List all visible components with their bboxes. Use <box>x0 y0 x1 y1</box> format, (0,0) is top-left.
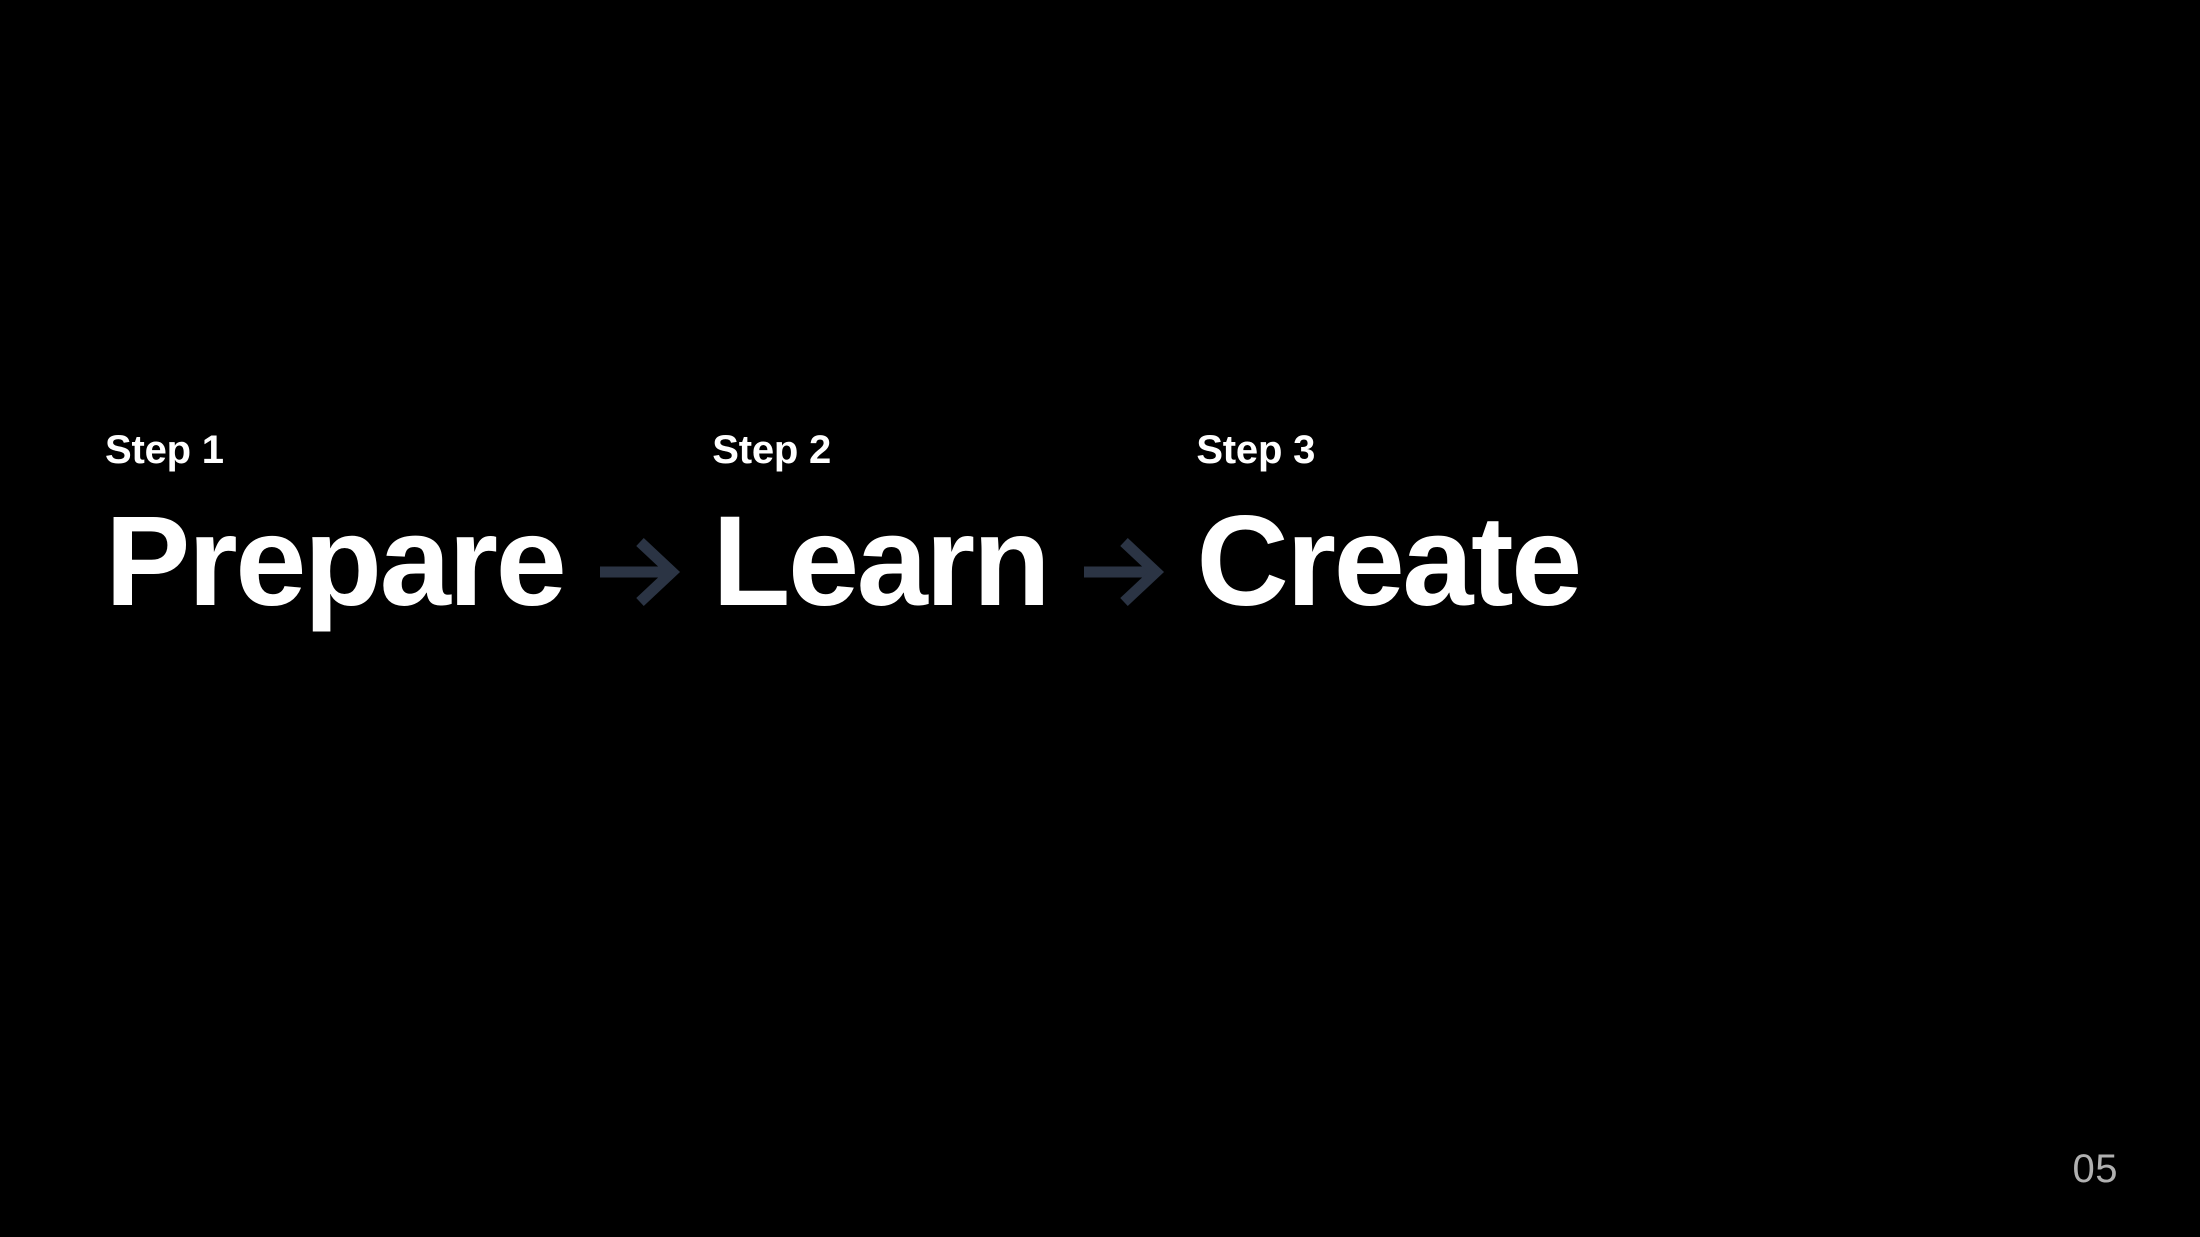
arrow-right-icon-1 <box>590 524 686 620</box>
step-label-2: Step 2 <box>712 430 831 470</box>
step-word-1: Prepare <box>105 498 564 626</box>
slide-canvas: Step 1 Prepare Step 2 Learn <box>0 0 2200 1237</box>
step-word-2: Learn <box>712 498 1048 626</box>
step-label-1: Step 1 <box>105 430 224 470</box>
step-flow: Step 1 Prepare Step 2 Learn <box>105 430 1580 626</box>
step-group-1: Step 1 Prepare <box>105 430 564 626</box>
step-label-3: Step 3 <box>1196 430 1315 470</box>
step-word-3: Create <box>1196 498 1579 626</box>
step-group-2: Step 2 Learn <box>712 430 1048 626</box>
step-group-3: Step 3 Create <box>1196 430 1579 626</box>
page-number: 05 <box>2073 1149 2119 1189</box>
arrow-right-icon-2 <box>1074 524 1170 620</box>
